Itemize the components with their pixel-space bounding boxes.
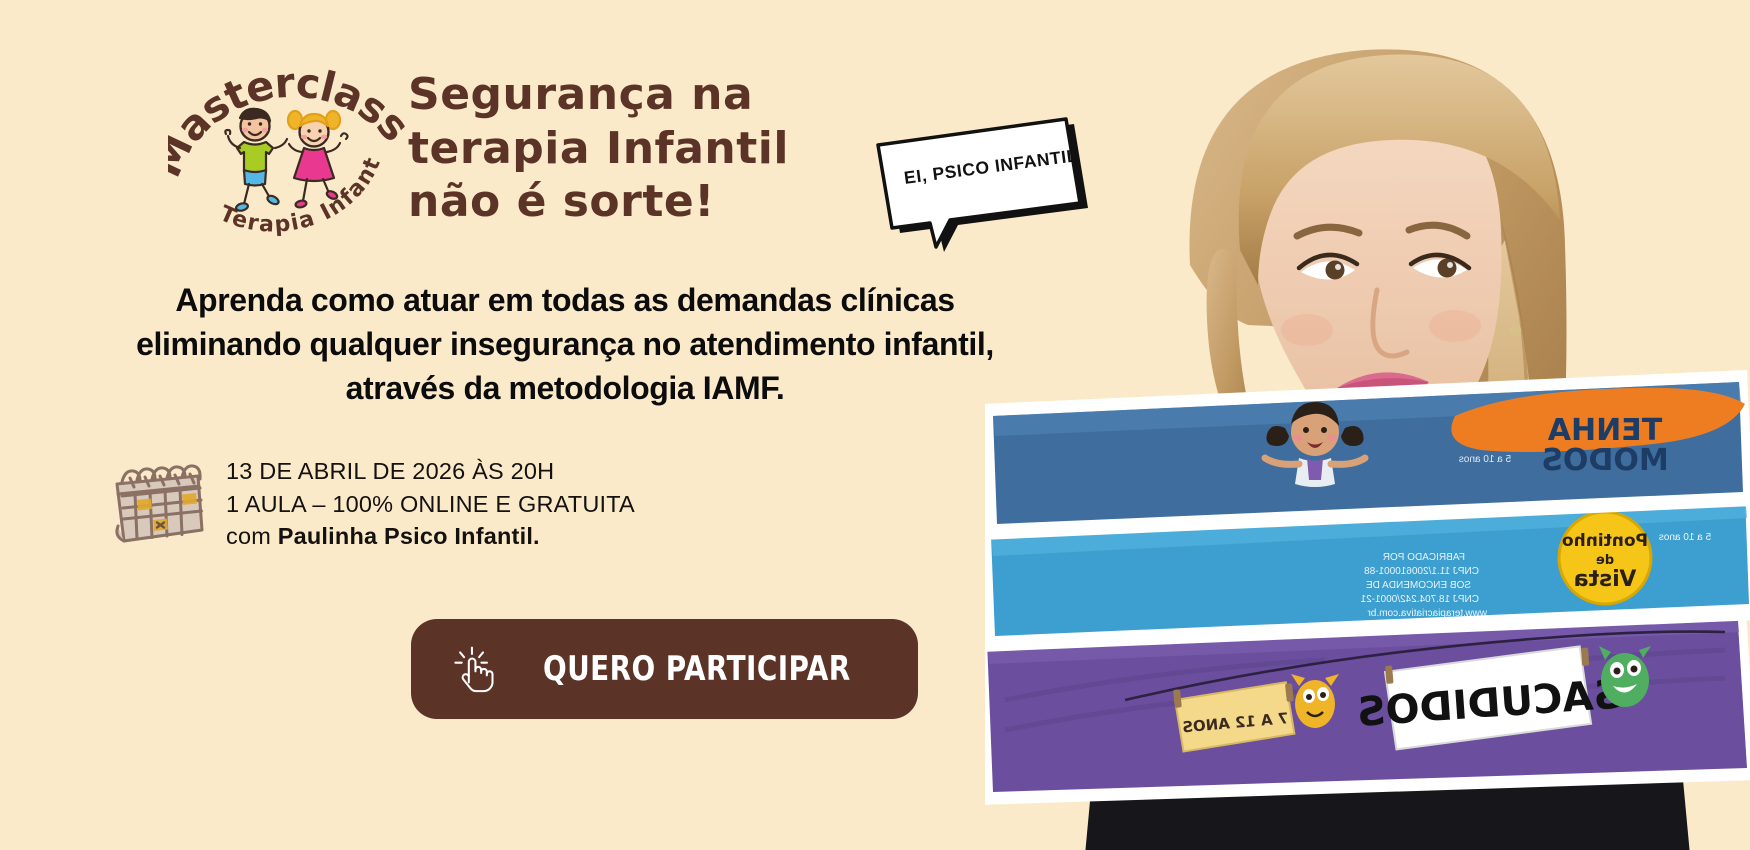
headline-line-3: não é sorte! (408, 175, 878, 229)
event-format: 1 AULA – 100% ONLINE E GRATUITA (226, 488, 635, 521)
instructor-photo: 7 A 12 ANOS SACUDIDOS (985, 0, 1750, 850)
quero-participar-button[interactable]: QUERO PARTICIPAR (411, 619, 918, 719)
svg-text:SOB ENCOMENDA DE: SOB ENCOMENDA DE (1366, 580, 1471, 591)
svg-text:5 a 10 anos: 5 a 10 anos (1459, 454, 1511, 465)
subheadline-line-3: através da metodologia IAMF. (60, 366, 1070, 410)
headline: Segurança na terapia Infantil não é sort… (408, 68, 878, 229)
subheadline-line-2: eliminando qualquer insegurança no atend… (60, 322, 1070, 366)
event-date: 13 DE ABRIL DE 2026 ÀS 20H (226, 455, 635, 488)
svg-text:CNPJ 18.704.242/0001-21: CNPJ 18.704.242/0001-21 (1360, 594, 1479, 605)
cta-label: QUERO PARTICIPAR (543, 649, 851, 689)
svg-text:FABRICADO POR: FABRICADO POR (1383, 552, 1465, 563)
headline-line-2: terapia Infantil (408, 122, 878, 176)
svg-text:MODOS: MODOS (1541, 443, 1668, 478)
svg-text:www.terapiacriativa.com.br: www.terapiacriativa.com.br (1367, 608, 1488, 619)
event-info-text: 13 DE ABRIL DE 2026 ÀS 20H 1 AULA – 100%… (226, 455, 635, 553)
event-host: com Paulinha Psico Infantil. (226, 520, 635, 553)
subheadline-line-1: Aprenda como atuar em todas as demandas … (60, 278, 1070, 322)
headline-line-1: Segurança na (408, 68, 878, 122)
promo-banner: Masterclass Terapia Infantil (0, 0, 1750, 850)
click-hand-icon (453, 638, 499, 700)
svg-text:Vista: Vista (1574, 567, 1637, 592)
event-host-prefix: com (226, 523, 278, 549)
svg-text:Pontinho: Pontinho (1562, 531, 1648, 551)
event-info: 13 DE ABRIL DE 2026 ÀS 20H 1 AULA – 100%… (108, 455, 728, 553)
two-children-illustration (210, 100, 370, 235)
event-host-name: Paulinha Psico Infantil. (278, 523, 540, 549)
instructor-photo-illustration: 7 A 12 ANOS SACUDIDOS (985, 0, 1750, 850)
subheadline: Aprenda como atuar em todas as demandas … (60, 278, 1070, 410)
svg-text:CNPJ 11.1/200610001-88: CNPJ 11.1/200610001-88 (1364, 566, 1479, 577)
svg-text:5 a 10 anos: 5 a 10 anos (1659, 532, 1711, 543)
calendar-icon (108, 458, 204, 550)
masterclass-logo: Masterclass Terapia Infantil (168, 42, 408, 267)
svg-text:de: de (1596, 553, 1614, 568)
